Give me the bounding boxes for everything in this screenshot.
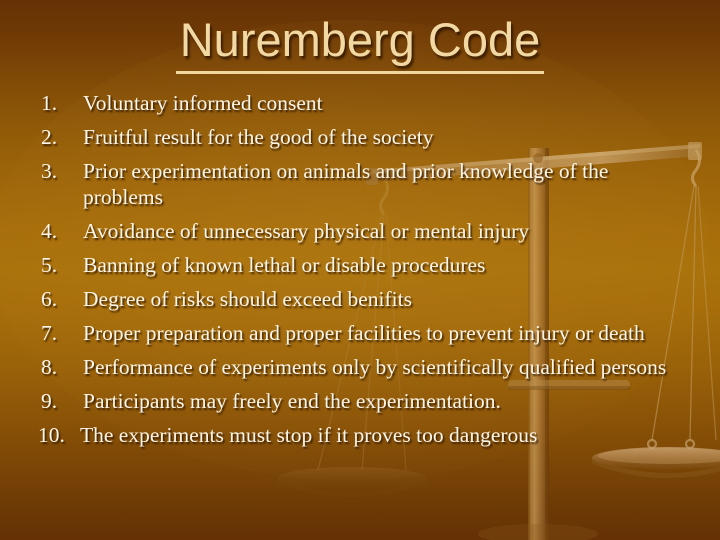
list-item: 10. The experiments must stop if it prov… [38, 422, 700, 448]
page-title: Nuremberg Code [176, 12, 545, 74]
list-item: 6. Degree of risks should exceed benifit… [38, 286, 700, 312]
list-item: 7. Proper preparation and proper facilit… [38, 320, 700, 346]
list-item-number: 2. [38, 124, 83, 150]
numbered-list: 1. Voluntary informed consent 2. Fruitfu… [38, 90, 700, 456]
list-item: 2. Fruitful result for the good of the s… [38, 124, 700, 150]
list-item: 8. Performance of experiments only by sc… [38, 354, 700, 380]
list-item-number: 1. [38, 90, 83, 116]
presentation-slide: Nuremberg Code 1. Voluntary informed con… [0, 0, 720, 540]
list-item-number: 10. [38, 422, 80, 448]
list-item-number: 6. [38, 286, 83, 312]
list-item-text: Fruitful result for the good of the soci… [83, 124, 700, 150]
list-item: 9. Participants may freely end the exper… [38, 388, 700, 414]
list-item-number: 5. [38, 252, 83, 278]
list-item-text: Prior experimentation on animals and pri… [83, 158, 700, 210]
list-item-text: Voluntary informed consent [83, 90, 700, 116]
list-item: 5. Banning of known lethal or disable pr… [38, 252, 700, 278]
list-item: 3. Prior experimentation on animals and … [38, 158, 700, 210]
scale-base [478, 524, 598, 540]
list-item: 4. Avoidance of unnecessary physical or … [38, 218, 700, 244]
list-item-text: Avoidance of unnecessary physical or men… [83, 218, 700, 244]
list-item-number: 7. [38, 320, 83, 346]
list-item-text: Banning of known lethal or disable proce… [83, 252, 700, 278]
list-item-number: 8. [38, 354, 83, 380]
title-block: Nuremberg Code [0, 12, 720, 74]
list-item-number: 4. [38, 218, 83, 244]
list-item-number: 9. [38, 388, 83, 414]
list-item-text: The experiments must stop if it proves t… [80, 422, 700, 448]
list-item-text: Proper preparation and proper facilities… [83, 320, 700, 346]
list-item-text: Performance of experiments only by scien… [83, 354, 700, 380]
list-item: 1. Voluntary informed consent [38, 90, 700, 116]
list-item-text: Participants may freely end the experime… [83, 388, 700, 414]
list-item-text: Degree of risks should exceed benifits [83, 286, 700, 312]
list-item-number: 3. [38, 158, 83, 184]
